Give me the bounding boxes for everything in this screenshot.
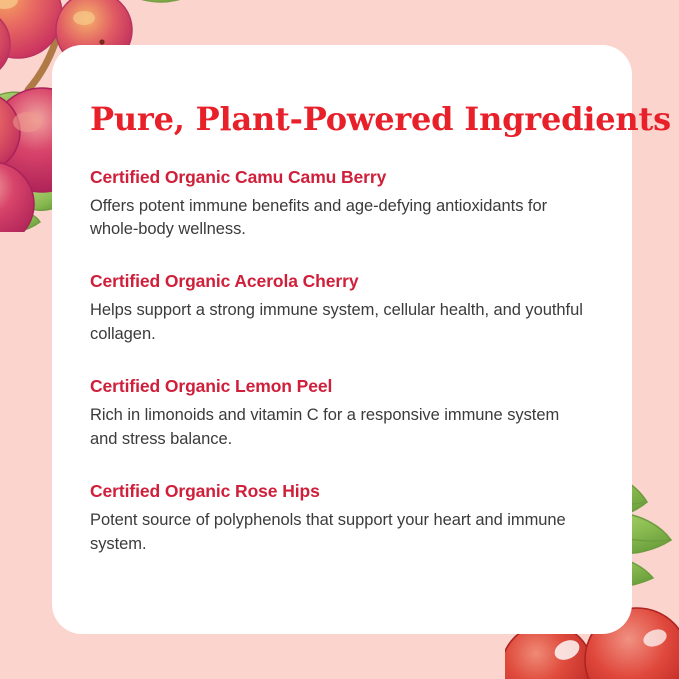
ingredient-name-lemon-peel: Certified Organic Lemon Peel: [90, 376, 602, 397]
ingredient-item: Certified Organic Lemon Peel Rich in lim…: [90, 376, 602, 451]
ingredient-item: Certified Organic Rose Hips Potent sourc…: [90, 481, 602, 556]
card-content: Pure, Plant-Powered Ingredients Certifie…: [90, 103, 602, 556]
ingredient-description-camu-camu-berry: Offers potent immune benefits and age-de…: [90, 195, 590, 242]
ingredients-card: Pure, Plant-Powered Ingredients Certifie…: [52, 45, 632, 634]
ingredient-description-rose-hips: Potent source of polyphenols that suppor…: [90, 509, 590, 556]
ingredient-item: Certified Organic Camu Camu Berry Offers…: [90, 167, 602, 242]
ingredient-name-camu-camu-berry: Certified Organic Camu Camu Berry: [90, 167, 602, 188]
ingredient-description-acerola-cherry: Helps support a strong immune system, ce…: [90, 299, 590, 346]
ingredient-name-acerola-cherry: Certified Organic Acerola Cherry: [90, 271, 602, 292]
ingredient-panel: Pure, Plant-Powered Ingredients Certifie…: [0, 0, 679, 679]
ingredient-name-rose-hips: Certified Organic Rose Hips: [90, 481, 602, 502]
ingredient-item: Certified Organic Acerola Cherry Helps s…: [90, 271, 602, 346]
page-title: Pure, Plant-Powered Ingredients: [90, 103, 602, 137]
ingredient-description-lemon-peel: Rich in limonoids and vitamin C for a re…: [90, 404, 590, 451]
